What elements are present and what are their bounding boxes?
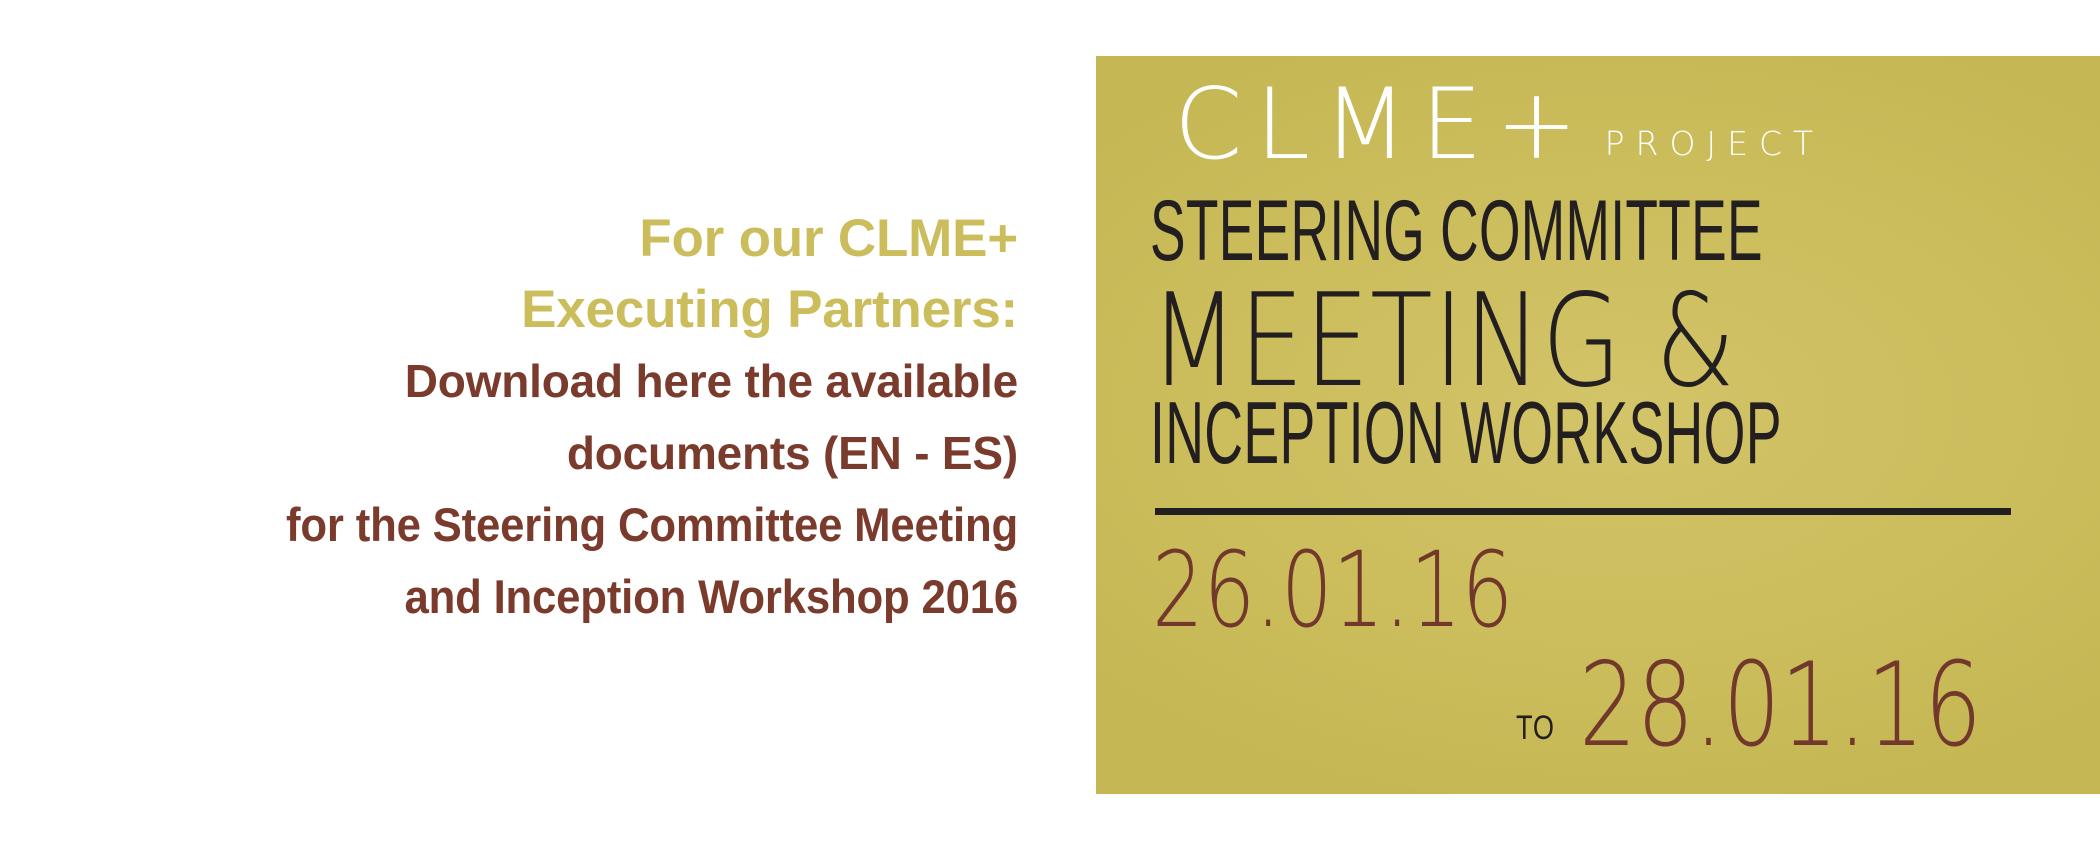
promo-body-line-3: for the Steering Committee Meeting: [71, 489, 1018, 561]
promo-body-line-1: Download here the available: [0, 345, 1018, 417]
promo-heading-line-1: For our CLME+: [0, 203, 1018, 274]
project-label: PROJECT: [1605, 124, 1825, 163]
banner-title-inception-workshop: INCEPTION WORKSHOP: [1150, 389, 1782, 477]
event-end-date-row: TO28.01.16: [1516, 648, 2095, 764]
banner-brand-row: CLME+PROJECT: [1174, 76, 1824, 174]
banner-title-steering-committee: STEERING COMMITTEE: [1150, 188, 1763, 274]
banner-divider-rule: [1155, 508, 2011, 515]
promo-body-line-2: documents (EN - ES): [0, 417, 1018, 489]
event-end-date: 28.01.16: [1579, 648, 1982, 764]
promo-body-line-4: and Inception Workshop 2016: [71, 561, 1018, 633]
event-banner: CLME+PROJECT STEERING COMMITTEE MEETING …: [1096, 56, 2100, 794]
clme-plus-logotype: CLME+: [1174, 68, 1591, 182]
date-range-separator: TO: [1516, 711, 1555, 745]
promo-text-block: For our CLME+ Executing Partners: Downlo…: [0, 203, 1018, 633]
promo-heading-line-2: Executing Partners:: [0, 274, 1018, 345]
event-start-date: 26.01.16: [1152, 538, 1513, 642]
